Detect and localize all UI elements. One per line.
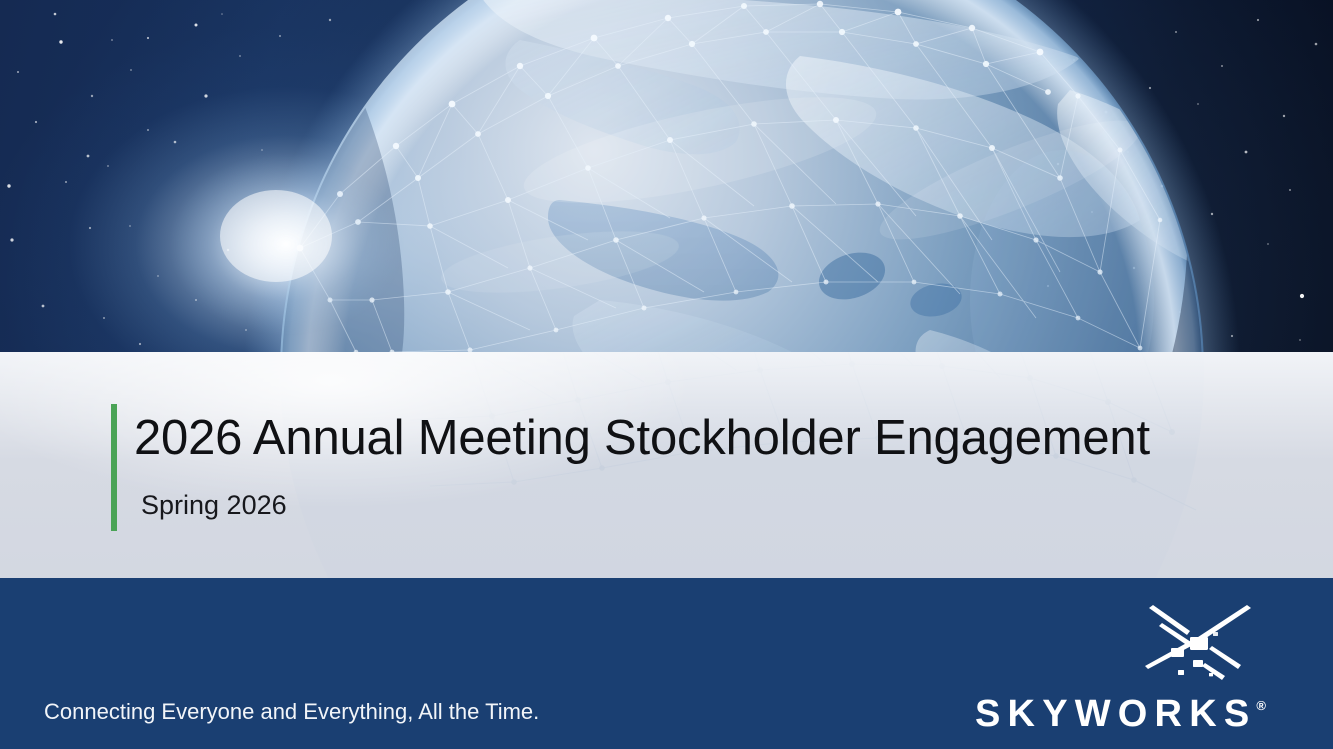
globe-network-image xyxy=(0,0,1333,352)
green-accent-bar xyxy=(111,404,117,531)
company-tagline: Connecting Everyone and Everything, All … xyxy=(44,698,539,726)
skyworks-wordmark: SKYWORKS® xyxy=(975,684,1266,736)
page-subtitle: Spring 2026 xyxy=(141,488,287,522)
starfield-background xyxy=(0,0,1333,352)
wordmark-text: SKYWORKS xyxy=(975,693,1256,735)
page-title: 2026 Annual Meeting Stockholder Engageme… xyxy=(134,408,1150,468)
skyworks-starburst-icon xyxy=(1143,604,1253,684)
registered-trademark-mark: ® xyxy=(1256,698,1266,713)
presentation-slide: 2026 Annual Meeting Stockholder Engageme… xyxy=(0,0,1333,749)
skyworks-logo: SKYWORKS® xyxy=(975,604,1245,728)
